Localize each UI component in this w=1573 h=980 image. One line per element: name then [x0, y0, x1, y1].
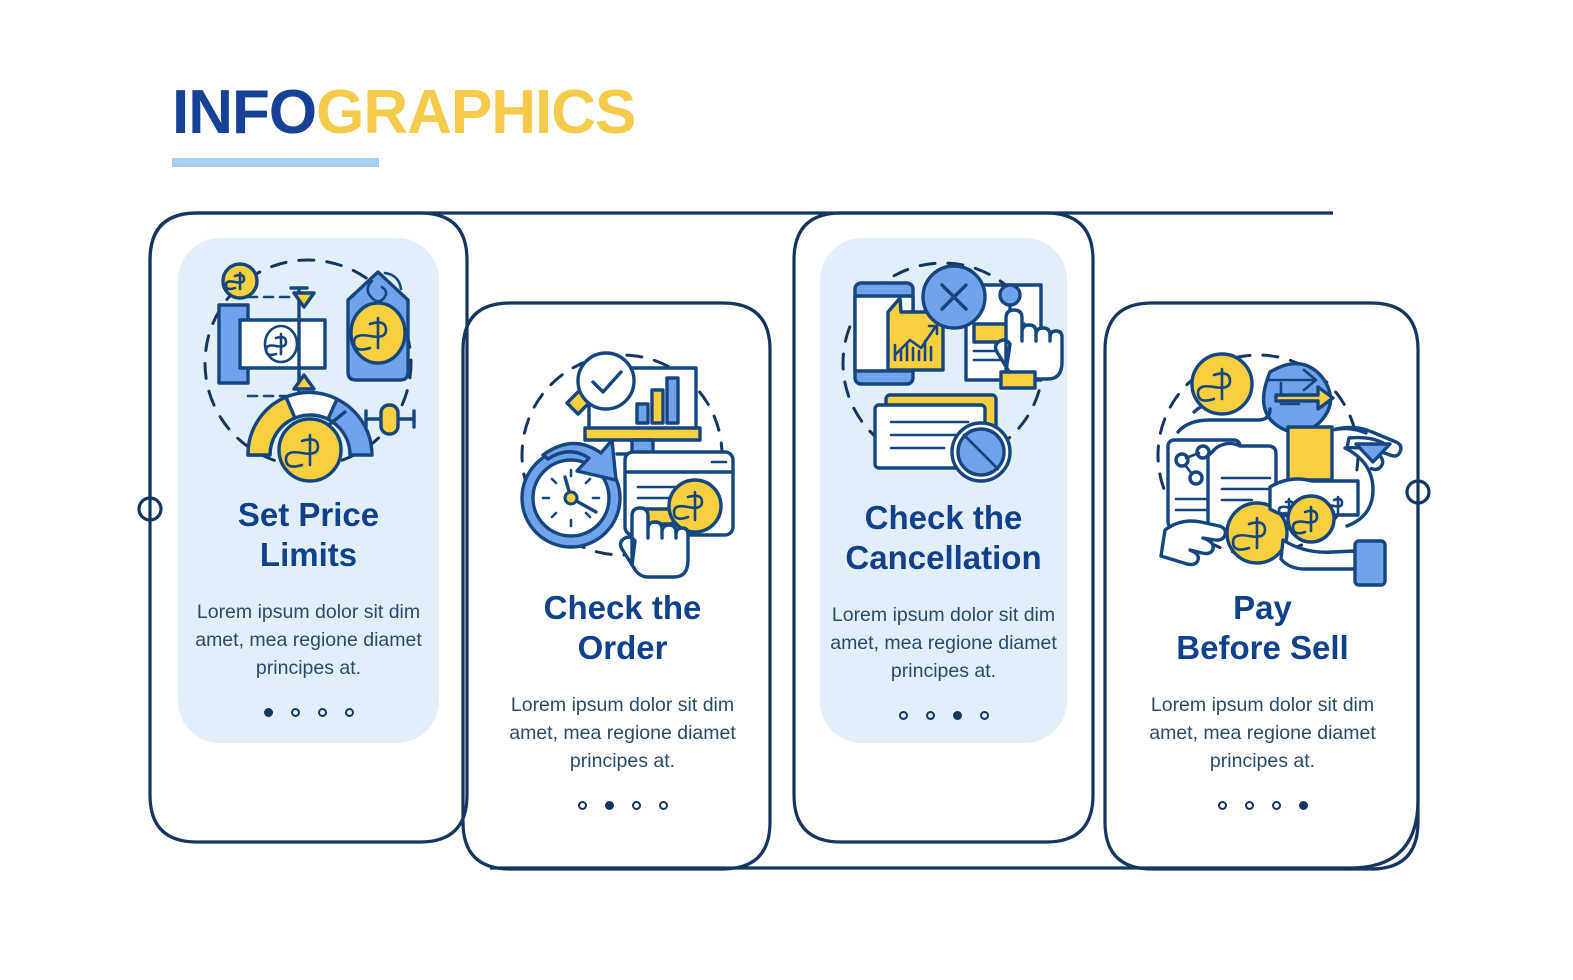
- card-body-text: Lorem ipsum dolor sit dim amet, mea regi…: [814, 601, 1073, 686]
- clock-monitor-checkmark-icon: [522, 353, 733, 577]
- progress-dots[interactable]: [1125, 801, 1400, 810]
- card-heading: Check the Order: [492, 588, 753, 669]
- progress-dot-3[interactable]: [953, 711, 962, 720]
- progress-dot-4[interactable]: [980, 711, 989, 720]
- card-heading: Check the Cancellation: [814, 498, 1073, 579]
- card-content-set-price-limits: Set Price Limits Lorem ipsum dolor sit d…: [178, 495, 439, 717]
- progress-dots[interactable]: [492, 801, 753, 810]
- progress-dot-4[interactable]: [659, 801, 668, 810]
- progress-dot-4[interactable]: [345, 708, 354, 717]
- progress-dot-1[interactable]: [899, 711, 908, 720]
- progress-dots[interactable]: [814, 711, 1073, 720]
- card-heading: Pay Before Sell: [1125, 588, 1400, 669]
- card-body-text: Lorem ipsum dolor sit dim amet, mea regi…: [178, 598, 439, 683]
- progress-dot-2[interactable]: [291, 708, 300, 717]
- progress-dot-1[interactable]: [1218, 801, 1227, 810]
- progress-dots[interactable]: [178, 708, 439, 717]
- hands-money-exchange-icon: [1158, 354, 1401, 585]
- artwork-layer: .ol { fill:none; stroke:#16355f; stroke-…: [0, 0, 1573, 980]
- progress-dot-2[interactable]: [1245, 801, 1254, 810]
- progress-dot-1[interactable]: [578, 801, 587, 810]
- progress-dot-3[interactable]: [318, 708, 327, 717]
- card-heading: Set Price Limits: [178, 495, 439, 576]
- progress-dot-2[interactable]: [926, 711, 935, 720]
- progress-dot-4[interactable]: [1299, 801, 1308, 810]
- progress-dot-3[interactable]: [1272, 801, 1281, 810]
- progress-dot-2[interactable]: [605, 801, 614, 810]
- infographic-canvas: INFOGRAPHICS .ol { fill:none; stroke:#16…: [0, 0, 1573, 980]
- card-body-text: Lorem ipsum dolor sit dim amet, mea regi…: [492, 691, 753, 776]
- card-content-check-the-cancellation: Check the Cancellation Lorem ipsum dolor…: [814, 498, 1073, 720]
- card-content-check-the-order: Check the Order Lorem ipsum dolor sit di…: [492, 588, 753, 810]
- progress-dot-1[interactable]: [264, 708, 273, 717]
- progress-dot-3[interactable]: [632, 801, 641, 810]
- card-content-pay-before-sell: Pay Before Sell Lorem ipsum dolor sit di…: [1125, 588, 1400, 810]
- card-body-text: Lorem ipsum dolor sit dim amet, mea regi…: [1125, 691, 1400, 776]
